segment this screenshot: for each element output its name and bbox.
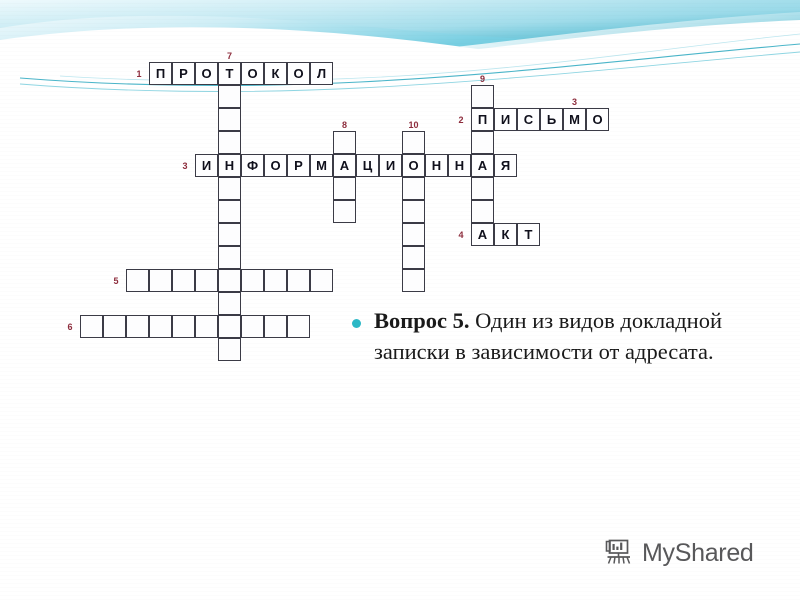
crossword-cell-filled[interactable]: О <box>264 154 287 177</box>
crossword-cell-filled[interactable]: С <box>517 108 540 131</box>
crossword-cell-empty[interactable] <box>241 269 264 292</box>
crossword-cell-empty[interactable] <box>471 177 494 200</box>
crossword-cell-filled[interactable]: П <box>149 62 172 85</box>
crossword-cell-empty[interactable] <box>333 200 356 223</box>
crossword-cell-empty[interactable] <box>172 269 195 292</box>
crossword-number-2: 2 <box>453 115 469 125</box>
crossword-number-9: 9 <box>475 74 491 84</box>
crossword-cell-empty[interactable] <box>264 269 287 292</box>
crossword-cell-filled[interactable]: Т <box>517 223 540 246</box>
crossword-cell-filled[interactable]: К <box>494 223 517 246</box>
crossword-cell-empty[interactable] <box>218 246 241 269</box>
crossword-cell-empty[interactable] <box>333 131 356 154</box>
crossword-cell-empty[interactable] <box>402 131 425 154</box>
crossword-cell-filled[interactable]: Л <box>310 62 333 85</box>
crossword-cell-filled[interactable]: О <box>241 62 264 85</box>
crossword-cell-empty[interactable] <box>402 269 425 292</box>
crossword-cell-filled[interactable]: Н <box>218 154 241 177</box>
crossword-cell-filled[interactable]: К <box>264 62 287 85</box>
crossword-cell-empty[interactable] <box>126 269 149 292</box>
crossword-cell-filled[interactable]: И <box>379 154 402 177</box>
crossword-cell-empty[interactable] <box>80 315 103 338</box>
crossword-cell-filled[interactable]: Н <box>425 154 448 177</box>
crossword-cell-filled[interactable]: А <box>471 154 494 177</box>
crossword-cell-empty[interactable] <box>149 315 172 338</box>
crossword-cell-empty[interactable] <box>218 85 241 108</box>
crossword-cell-empty[interactable] <box>402 246 425 269</box>
crossword-cell-empty[interactable] <box>195 269 218 292</box>
myshared-wordmark: MyShared <box>642 539 754 568</box>
crossword-cell-filled[interactable]: Т <box>218 62 241 85</box>
crossword-cell-empty[interactable] <box>218 108 241 131</box>
crossword-cell-empty[interactable] <box>218 131 241 154</box>
crossword-cell-empty[interactable] <box>103 315 126 338</box>
crossword-cell-filled[interactable]: Р <box>287 154 310 177</box>
crossword-number-4: 4 <box>453 230 469 240</box>
crossword-cell-empty[interactable] <box>264 315 287 338</box>
crossword-cell-empty[interactable] <box>402 223 425 246</box>
crossword-cell-empty[interactable] <box>471 85 494 108</box>
presentation-chart-icon <box>603 538 633 568</box>
crossword-cell-filled[interactable]: А <box>333 154 356 177</box>
crossword-cell-filled[interactable]: И <box>494 108 517 131</box>
crossword-cell-empty[interactable] <box>126 315 149 338</box>
crossword-cell-empty[interactable] <box>218 223 241 246</box>
crossword-cell-filled[interactable]: И <box>195 154 218 177</box>
crossword-cell-filled[interactable]: П <box>471 108 494 131</box>
crossword-number-5: 5 <box>108 276 124 286</box>
crossword-cell-filled[interactable]: Ф <box>241 154 264 177</box>
crossword-number-8: 8 <box>337 120 353 130</box>
crossword-cell-filled[interactable]: Р <box>172 62 195 85</box>
crossword-cell-filled[interactable]: М <box>310 154 333 177</box>
crossword-cell-empty[interactable] <box>287 269 310 292</box>
crossword-cell-filled[interactable]: Ц <box>356 154 379 177</box>
crossword-number-3: 3 <box>567 97 583 107</box>
crossword-cell-filled[interactable]: О <box>287 62 310 85</box>
crossword-cell-filled[interactable]: О <box>586 108 609 131</box>
crossword-cell-empty[interactable] <box>287 315 310 338</box>
crossword-cell-filled[interactable]: Н <box>448 154 471 177</box>
crossword-cell-filled[interactable]: Ь <box>540 108 563 131</box>
crossword-cell-empty[interactable] <box>471 200 494 223</box>
crossword-cell-empty[interactable] <box>218 269 241 292</box>
crossword-cell-empty[interactable] <box>218 200 241 223</box>
crossword-number-1: 1 <box>131 69 147 79</box>
crossword-cell-empty[interactable] <box>471 131 494 154</box>
crossword-cell-empty[interactable] <box>241 315 264 338</box>
crossword-cell-filled[interactable]: О <box>195 62 218 85</box>
crossword-cell-filled[interactable]: М <box>563 108 586 131</box>
crossword-cell-filled[interactable]: Я <box>494 154 517 177</box>
question-block: Вопрос 5. Один из видов докладной записк… <box>352 305 752 367</box>
question-text: Вопрос 5. Один из видов докладной записк… <box>374 305 752 367</box>
crossword-cell-empty[interactable] <box>218 292 241 315</box>
crossword-cell-empty[interactable] <box>402 200 425 223</box>
crossword-number-3: 3 <box>177 161 193 171</box>
bullet-icon <box>352 319 361 328</box>
crossword-number-10: 10 <box>406 120 422 130</box>
crossword-cell-filled[interactable]: О <box>402 154 425 177</box>
crossword-cell-empty[interactable] <box>195 315 218 338</box>
question-label: Вопрос 5. <box>374 308 469 333</box>
crossword-cell-empty[interactable] <box>218 177 241 200</box>
crossword-cell-empty[interactable] <box>149 269 172 292</box>
myshared-logo[interactable]: MyShared <box>603 538 754 568</box>
crossword-cell-empty[interactable] <box>310 269 333 292</box>
crossword-cell-empty[interactable] <box>218 315 241 338</box>
crossword-cell-empty[interactable] <box>333 177 356 200</box>
crossword-cell-empty[interactable] <box>172 315 195 338</box>
crossword-cell-empty[interactable] <box>402 177 425 200</box>
crossword-number-7: 7 <box>222 51 238 61</box>
crossword-cell-filled[interactable]: А <box>471 223 494 246</box>
crossword-number-6: 6 <box>62 322 78 332</box>
crossword-cell-empty[interactable] <box>218 338 241 361</box>
